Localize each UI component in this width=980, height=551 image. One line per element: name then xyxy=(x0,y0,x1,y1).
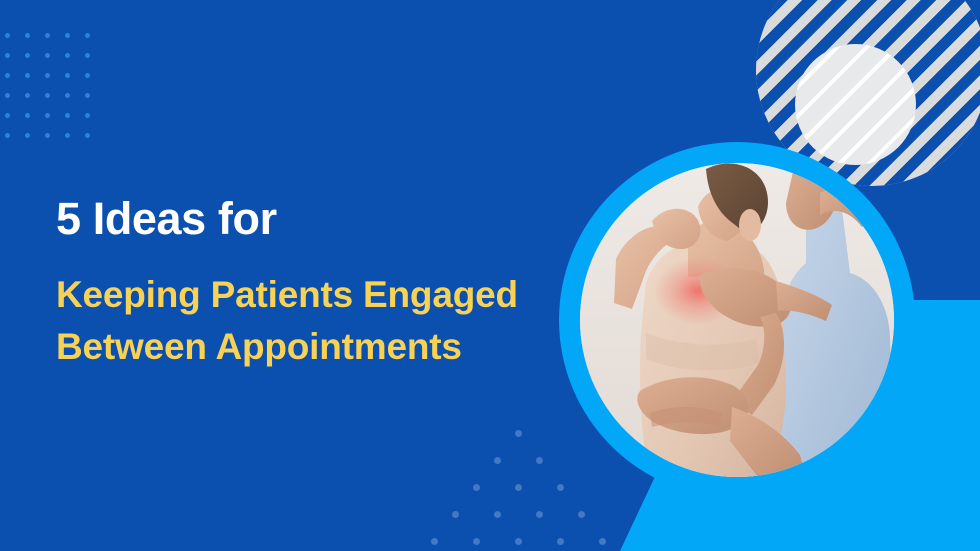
decorative-dot xyxy=(494,511,501,518)
decorative-dot xyxy=(557,484,564,491)
decorative-dot xyxy=(536,511,543,518)
decorative-dot xyxy=(5,133,10,138)
decorative-dot xyxy=(5,93,10,98)
decorative-dot xyxy=(25,53,30,58)
decorative-dot xyxy=(515,538,522,545)
decorative-dot xyxy=(85,73,90,78)
decorative-dot xyxy=(45,113,50,118)
headline-line-3: Between Appointments xyxy=(56,321,556,373)
decorative-dot xyxy=(85,113,90,118)
decorative-dot xyxy=(5,53,10,58)
headline-block: 5 Ideas for Keeping Patients Engaged Bet… xyxy=(56,193,556,373)
decorative-dot xyxy=(25,113,30,118)
decorative-dot xyxy=(5,73,10,78)
decorative-dot xyxy=(25,93,30,98)
decorative-dot xyxy=(536,457,543,464)
decorative-dot xyxy=(85,133,90,138)
decorative-dot xyxy=(65,113,70,118)
decorative-dot xyxy=(5,113,10,118)
headline-line-2: Keeping Patients Engaged xyxy=(56,269,556,321)
decorative-dot xyxy=(65,93,70,98)
decorative-dot xyxy=(65,73,70,78)
decorative-dot xyxy=(45,93,50,98)
decorative-dot xyxy=(85,93,90,98)
decorative-dot xyxy=(45,73,50,78)
decorative-dot xyxy=(65,133,70,138)
decorative-dot xyxy=(45,53,50,58)
photo-ring xyxy=(559,142,915,498)
decorative-dot xyxy=(473,538,480,545)
decorative-dot xyxy=(494,457,501,464)
white-stripes-decoration xyxy=(795,44,916,165)
headline-line-1: 5 Ideas for xyxy=(56,193,556,245)
dot-grid-top-left xyxy=(5,33,105,178)
decorative-dot xyxy=(45,133,50,138)
decorative-dot xyxy=(65,53,70,58)
decorative-dot xyxy=(452,511,459,518)
decorative-dot xyxy=(25,133,30,138)
photo-circle xyxy=(580,163,894,477)
decorative-dot xyxy=(85,33,90,38)
solid-white-circle-decoration xyxy=(795,44,916,165)
decorative-dot xyxy=(599,538,606,545)
decorative-dot xyxy=(515,484,522,491)
therapy-photo-illustration xyxy=(580,163,894,477)
decorative-dot xyxy=(85,53,90,58)
decorative-dot xyxy=(25,73,30,78)
decorative-dot xyxy=(578,511,585,518)
decorative-dot xyxy=(5,33,10,38)
decorative-dot xyxy=(431,538,438,545)
decorative-dot xyxy=(515,430,522,437)
decorative-dot xyxy=(473,484,480,491)
decorative-dot xyxy=(65,33,70,38)
decorative-dot xyxy=(25,33,30,38)
decorative-dot xyxy=(45,33,50,38)
decorative-dot xyxy=(557,538,564,545)
promo-banner: 5 Ideas for Keeping Patients Engaged Bet… xyxy=(0,0,980,551)
